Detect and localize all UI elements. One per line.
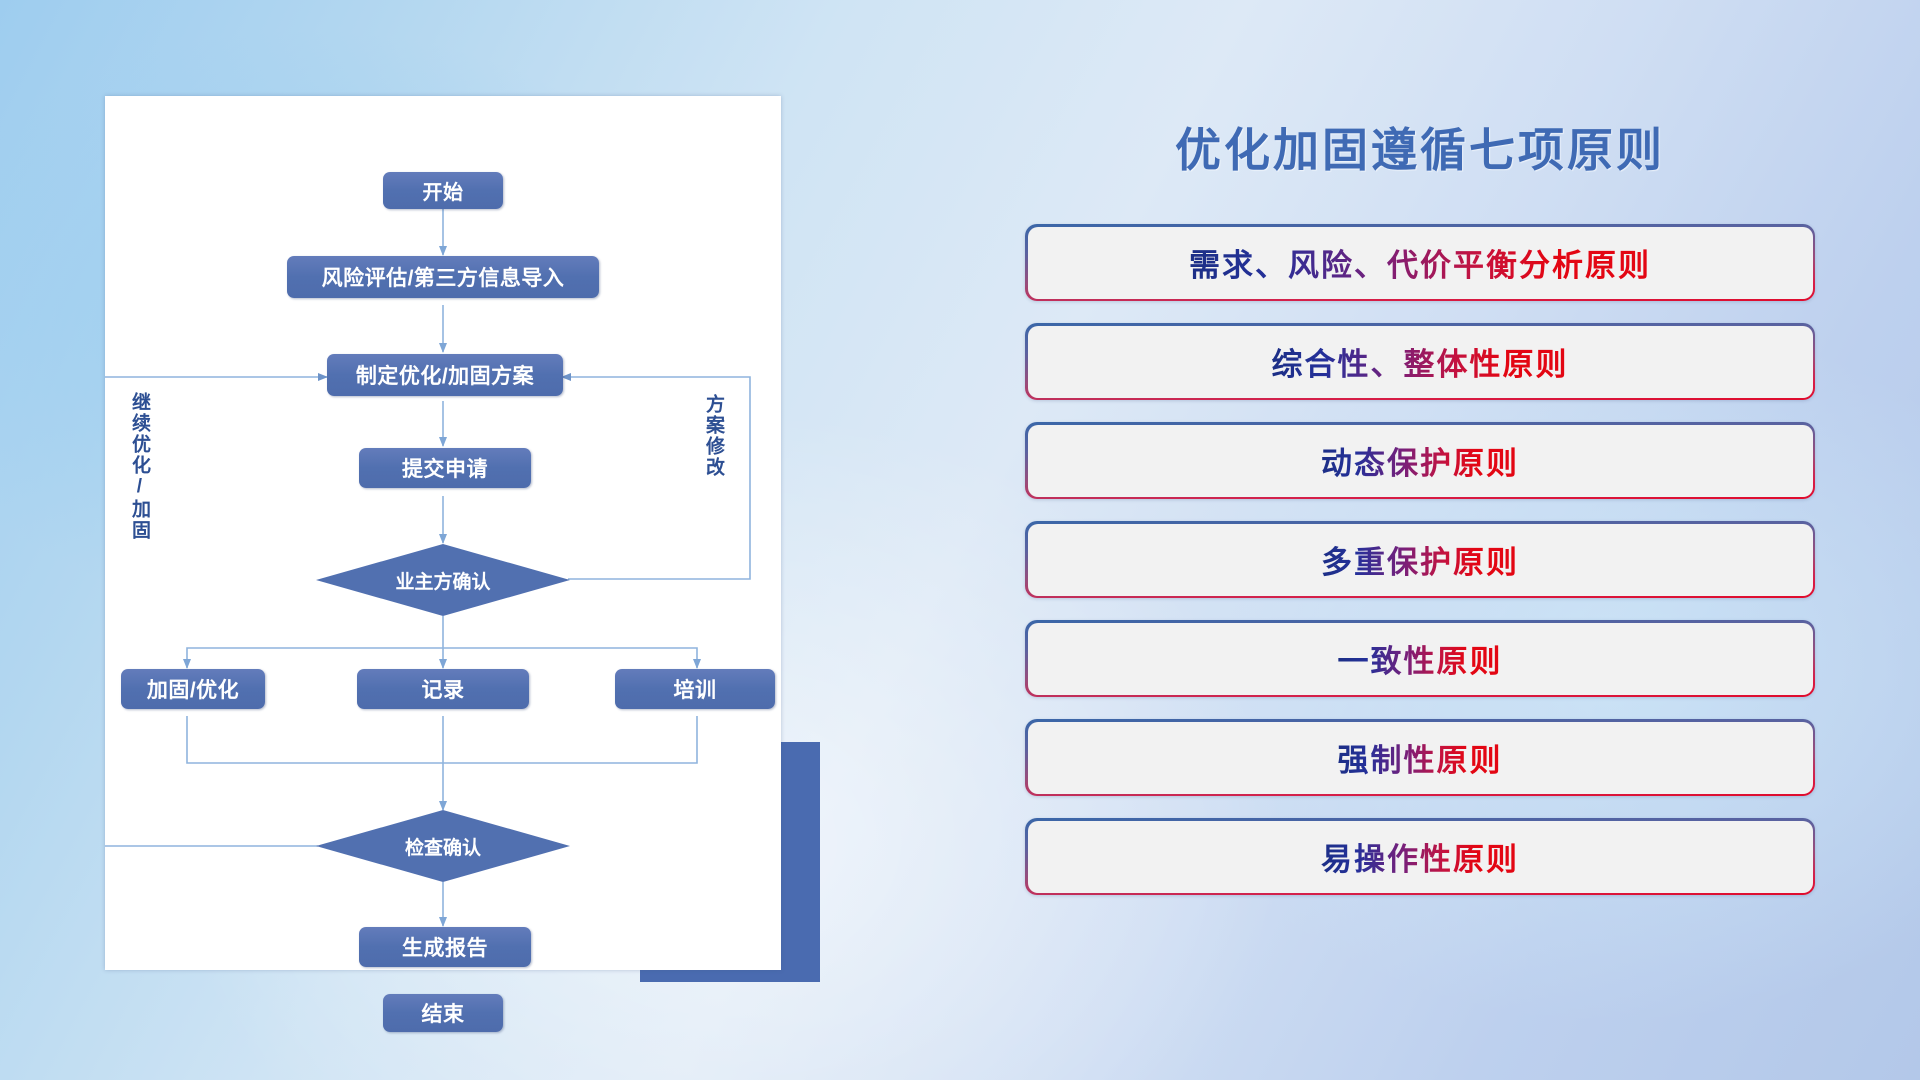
- principle-card-6-label: 强制性原则: [1338, 735, 1503, 780]
- principle-card-3-face: 动态保护原则: [1028, 425, 1813, 497]
- principle-card-4[interactable]: 多重保护原则: [1025, 521, 1815, 598]
- slide-canvas: 开始 风险评估/第三方信息导入 制定优化/加固方案 提交申请 业主方确认 加固/…: [0, 0, 1920, 1080]
- principle-card-5-face: 一致性原则: [1028, 623, 1813, 695]
- flow-node-make-plan[interactable]: 制定优化/加固方案: [327, 354, 563, 396]
- flow-node-record[interactable]: 记录: [357, 669, 529, 709]
- principle-card-7[interactable]: 易操作性原则: [1025, 818, 1815, 895]
- principles-title: 优化加固遵循七项原则: [1015, 114, 1825, 180]
- principle-card-3-label: 动态保护原则: [1321, 438, 1519, 483]
- principle-card-7-face: 易操作性原则: [1028, 821, 1813, 893]
- principle-card-6-face: 强制性原则: [1028, 722, 1813, 794]
- principles-list: 需求、风险、代价平衡分析原则 综合性、整体性原则 动态保护原则 多重保护原则: [1025, 224, 1815, 917]
- principle-card-4-face: 多重保护原则: [1028, 524, 1813, 596]
- flow-node-generate-report[interactable]: 生成报告: [359, 927, 531, 967]
- principle-card-2-label: 综合性、整体性原则: [1272, 339, 1569, 384]
- principle-card-1-face: 需求、风险、代价平衡分析原则: [1028, 227, 1813, 299]
- flow-node-owner-confirm-label[interactable]: 业主方确认: [353, 564, 533, 596]
- principle-card-7-label: 易操作性原则: [1321, 834, 1519, 879]
- principle-card-1[interactable]: 需求、风险、代价平衡分析原则: [1025, 224, 1815, 301]
- flow-node-submit-application[interactable]: 提交申请: [359, 448, 531, 488]
- principle-card-2-face: 综合性、整体性原则: [1028, 326, 1813, 398]
- principle-card-6[interactable]: 强制性原则: [1025, 719, 1815, 796]
- flow-edge-label-continue-optimize: 继续优化/加固: [129, 392, 149, 541]
- principle-card-5-label: 一致性原则: [1338, 636, 1503, 681]
- principle-card-3[interactable]: 动态保护原则: [1025, 422, 1815, 499]
- principle-card-2[interactable]: 综合性、整体性原则: [1025, 323, 1815, 400]
- principle-card-4-label: 多重保护原则: [1321, 537, 1519, 582]
- flow-edge-label-plan-revision: 方案修改: [703, 394, 723, 478]
- flow-node-reinforce-optimize[interactable]: 加固/优化: [121, 669, 265, 709]
- flow-node-training[interactable]: 培训: [615, 669, 775, 709]
- flowchart-panel: 开始 风险评估/第三方信息导入 制定优化/加固方案 提交申请 业主方确认 加固/…: [105, 96, 781, 970]
- flow-node-risk-assessment[interactable]: 风险评估/第三方信息导入: [287, 256, 599, 298]
- flow-node-end[interactable]: 结束: [383, 994, 503, 1032]
- principles-panel: 优化加固遵循七项原则 需求、风险、代价平衡分析原则 综合性、整体性原则 动态保护…: [1015, 96, 1825, 996]
- principle-card-5[interactable]: 一致性原则: [1025, 620, 1815, 697]
- flow-node-start[interactable]: 开始: [383, 172, 503, 209]
- flow-node-check-confirm-label[interactable]: 检查确认: [358, 830, 528, 862]
- principle-card-1-label: 需求、风险、代价平衡分析原则: [1189, 240, 1651, 285]
